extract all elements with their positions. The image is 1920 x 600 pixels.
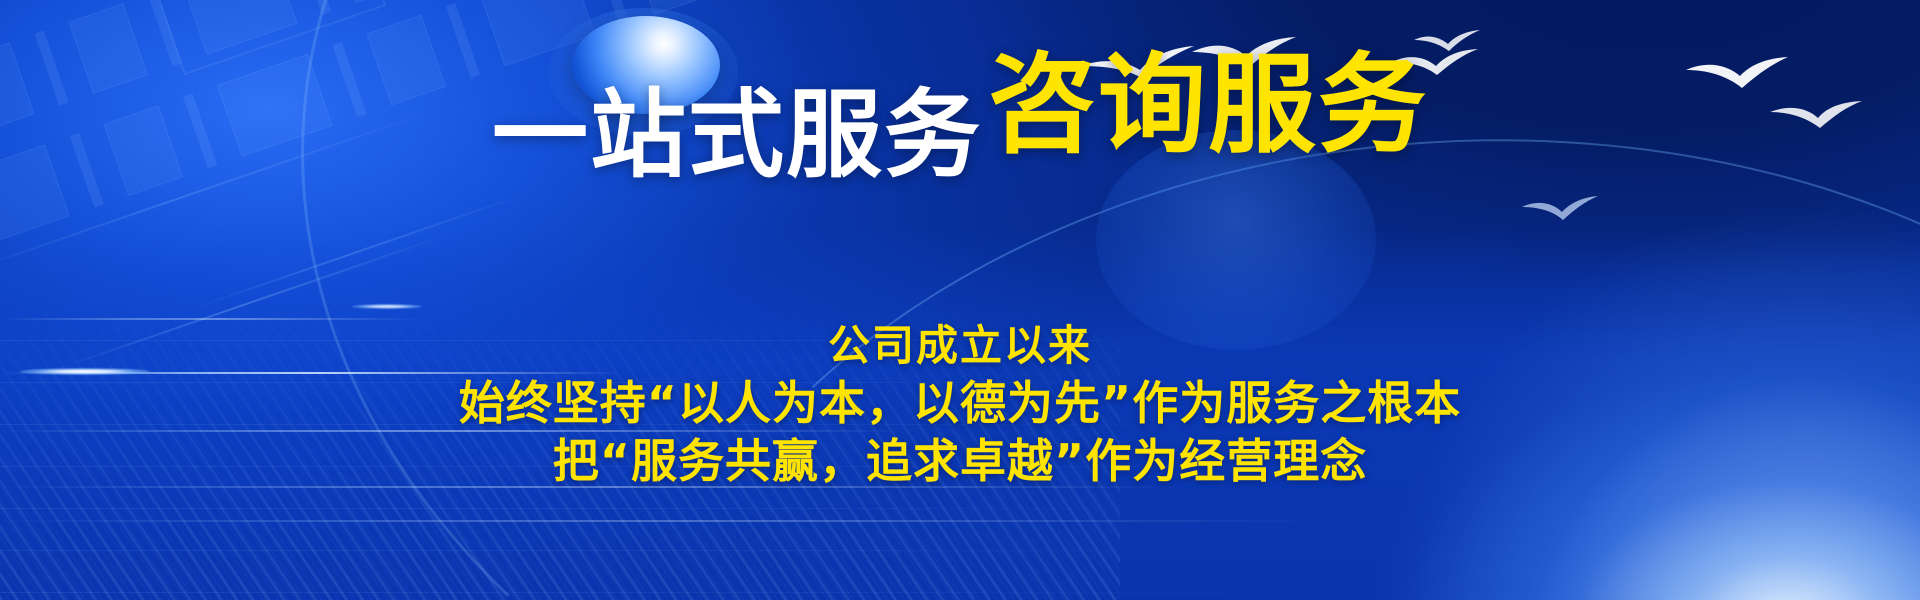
- headline-primary: 一站式服务: [492, 79, 982, 191]
- page-title: 一站式服务咨询服务: [0, 78, 1920, 186]
- subtitle-block: 公司成立以来 始终坚持“以人为本，以德为先”作为服务之根本 把“服务共赢，追求卓…: [0, 318, 1920, 490]
- horizontal-light-streak: [0, 520, 1320, 522]
- headline-accent: 咨询服务: [988, 43, 1428, 168]
- subtitle-line-3: 把“服务共赢，追求卓越”作为经营理念: [0, 432, 1920, 490]
- subtitle-line-1: 公司成立以来: [0, 318, 1920, 374]
- promo-banner: 一站式服务咨询服务 公司成立以来 始终坚持“以人为本，以德为先”作为服务之根本 …: [0, 0, 1920, 600]
- lens-flare-spot: [352, 304, 422, 309]
- subtitle-line-2: 始终坚持“以人为本，以德为先”作为服务之根本: [0, 374, 1920, 432]
